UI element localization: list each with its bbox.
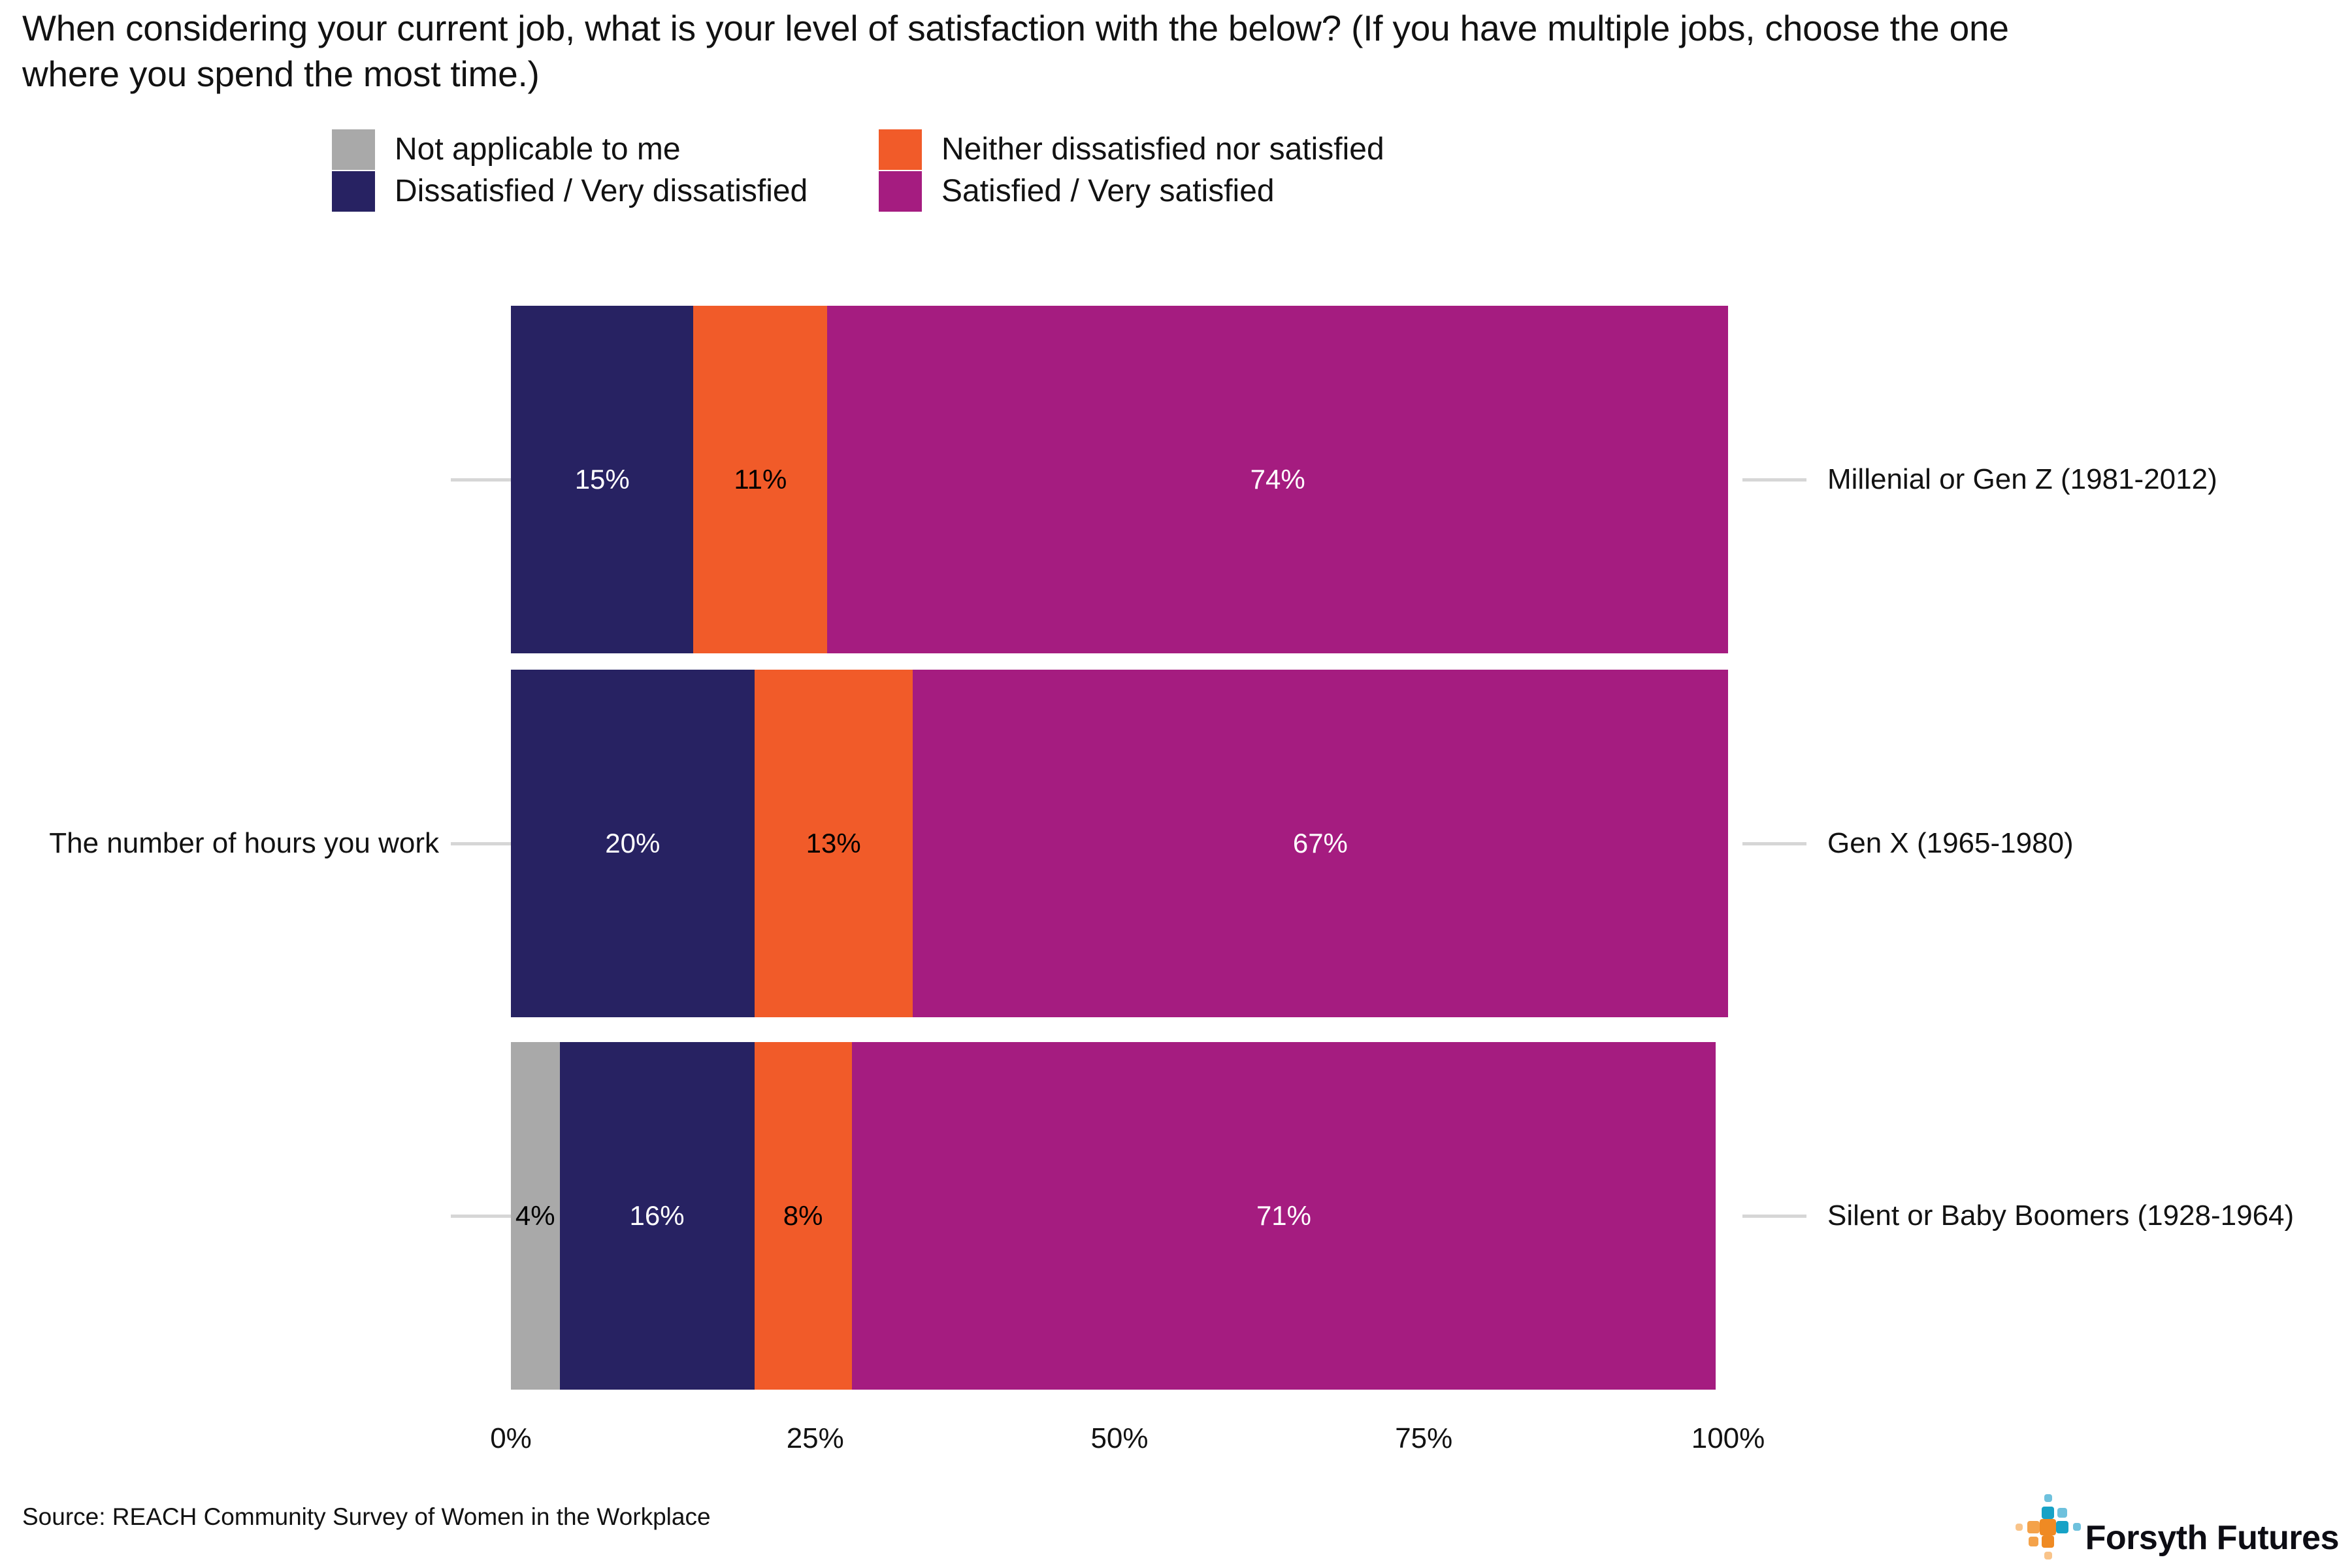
axis-leader-line: [451, 1215, 511, 1218]
bar-segment-value: 20%: [605, 830, 660, 857]
bar-segment[interactable]: 20%: [511, 670, 755, 1017]
stacked-bar: 4%16%8%71%: [511, 1042, 1728, 1390]
axis-leader-line: [451, 478, 511, 482]
logo-dot-icon: [2057, 1508, 2067, 1518]
category-leader-line: [1742, 478, 1806, 482]
bar-segment[interactable]: 71%: [852, 1042, 1716, 1390]
category-leader-line: [1742, 1215, 1806, 1218]
bar-segment[interactable]: 4%: [511, 1042, 560, 1390]
brand-logo: Forsyth Futures: [2011, 1487, 2339, 1560]
x-axis-tick-label: 75%: [1395, 1424, 1452, 1453]
category-label: Millenial or Gen Z (1981-2012): [1827, 465, 2217, 494]
bar-segment[interactable]: 15%: [511, 306, 693, 653]
category-label: Gen X (1965-1980): [1827, 829, 2074, 858]
category-label: Silent or Baby Boomers (1928-1964): [1827, 1201, 2294, 1230]
bar-track: 20%13%67%: [511, 670, 1728, 1017]
x-axis: 0%25%50%75%100%: [0, 1424, 2352, 1470]
bar-segment-value: 13%: [806, 830, 861, 857]
bar-segment-value: 74%: [1250, 466, 1305, 493]
logo-dot-icon: [2042, 1535, 2054, 1548]
logo-dot-icon: [2044, 1552, 2052, 1560]
stacked-bar: 20%13%67%: [511, 670, 1728, 1017]
bar-segment-value: 71%: [1256, 1202, 1311, 1230]
bar-segment-value: 16%: [630, 1202, 685, 1230]
bar-segment[interactable]: 11%: [693, 306, 827, 653]
bar-segment[interactable]: 67%: [913, 670, 1728, 1017]
source-note: Source: REACH Community Survey of Women …: [22, 1505, 711, 1529]
logo-dot-icon: [2027, 1521, 2040, 1533]
brand-name: Forsyth Futures: [2085, 1521, 2339, 1555]
bar-segment-value: 4%: [515, 1202, 555, 1230]
x-axis-tick-label: 0%: [490, 1424, 532, 1453]
x-axis-tick-label: 50%: [1090, 1424, 1148, 1453]
axis-leader-line: [451, 842, 511, 845]
plot-area: 15%11%74%Millenial or Gen Z (1981-2012)2…: [0, 0, 2352, 1568]
bar-track: 4%16%8%71%: [511, 1042, 1728, 1390]
logo-dot-icon: [2044, 1494, 2052, 1502]
chart-canvas: When considering your current job, what …: [0, 0, 2352, 1568]
logo-dot-icon: [2073, 1523, 2081, 1531]
stacked-bar: 15%11%74%: [511, 306, 1728, 653]
logo-dot-icon: [2029, 1537, 2038, 1546]
forsyth-futures-mark-icon: [2011, 1490, 2082, 1560]
x-axis-tick-label: 25%: [787, 1424, 844, 1453]
bar-segment-value: 11%: [734, 466, 787, 493]
category-leader-line: [1742, 842, 1806, 845]
bar-segment-value: 15%: [575, 466, 630, 493]
logo-dot-icon: [2040, 1519, 2056, 1535]
bar-segment[interactable]: 8%: [755, 1042, 852, 1390]
logo-dot-icon: [2056, 1521, 2068, 1533]
logo-dot-icon: [2016, 1524, 2023, 1531]
bar-track: 15%11%74%: [511, 306, 1728, 653]
x-axis-tick-label: 100%: [1691, 1424, 1765, 1453]
bar-segment[interactable]: 74%: [827, 306, 1728, 653]
y-axis-label: The number of hours you work: [0, 829, 439, 858]
bar-segment-value: 8%: [783, 1202, 823, 1230]
logo-dot-icon: [2042, 1507, 2054, 1519]
bar-segment[interactable]: 13%: [755, 670, 913, 1017]
bar-segment-value: 67%: [1293, 830, 1348, 857]
bar-segment[interactable]: 16%: [560, 1042, 755, 1390]
